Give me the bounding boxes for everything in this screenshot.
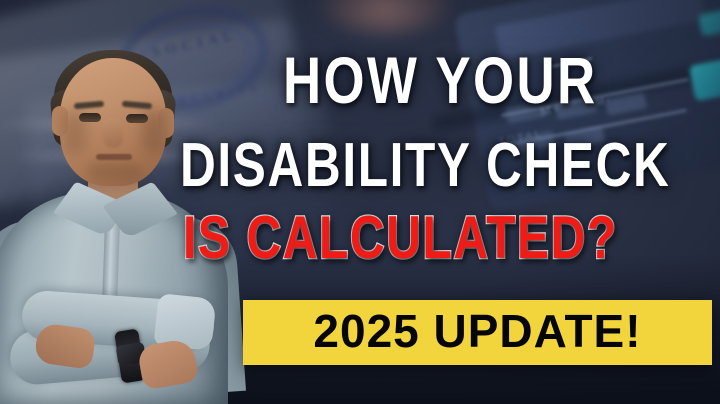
headline-line-2: DISABILITY CHECK bbox=[180, 137, 670, 195]
update-banner: 2025 UPDATE! bbox=[243, 300, 712, 365]
update-banner-text: 2025 UPDATE! bbox=[243, 300, 712, 365]
headline-line-3-red: IS CALCULATED? bbox=[183, 210, 618, 266]
headline-line-1: HOW YOUR bbox=[283, 49, 598, 111]
youtube-thumbnail-image: SOCIAL SECURITY M+ M- TOTAL bbox=[0, 0, 720, 404]
